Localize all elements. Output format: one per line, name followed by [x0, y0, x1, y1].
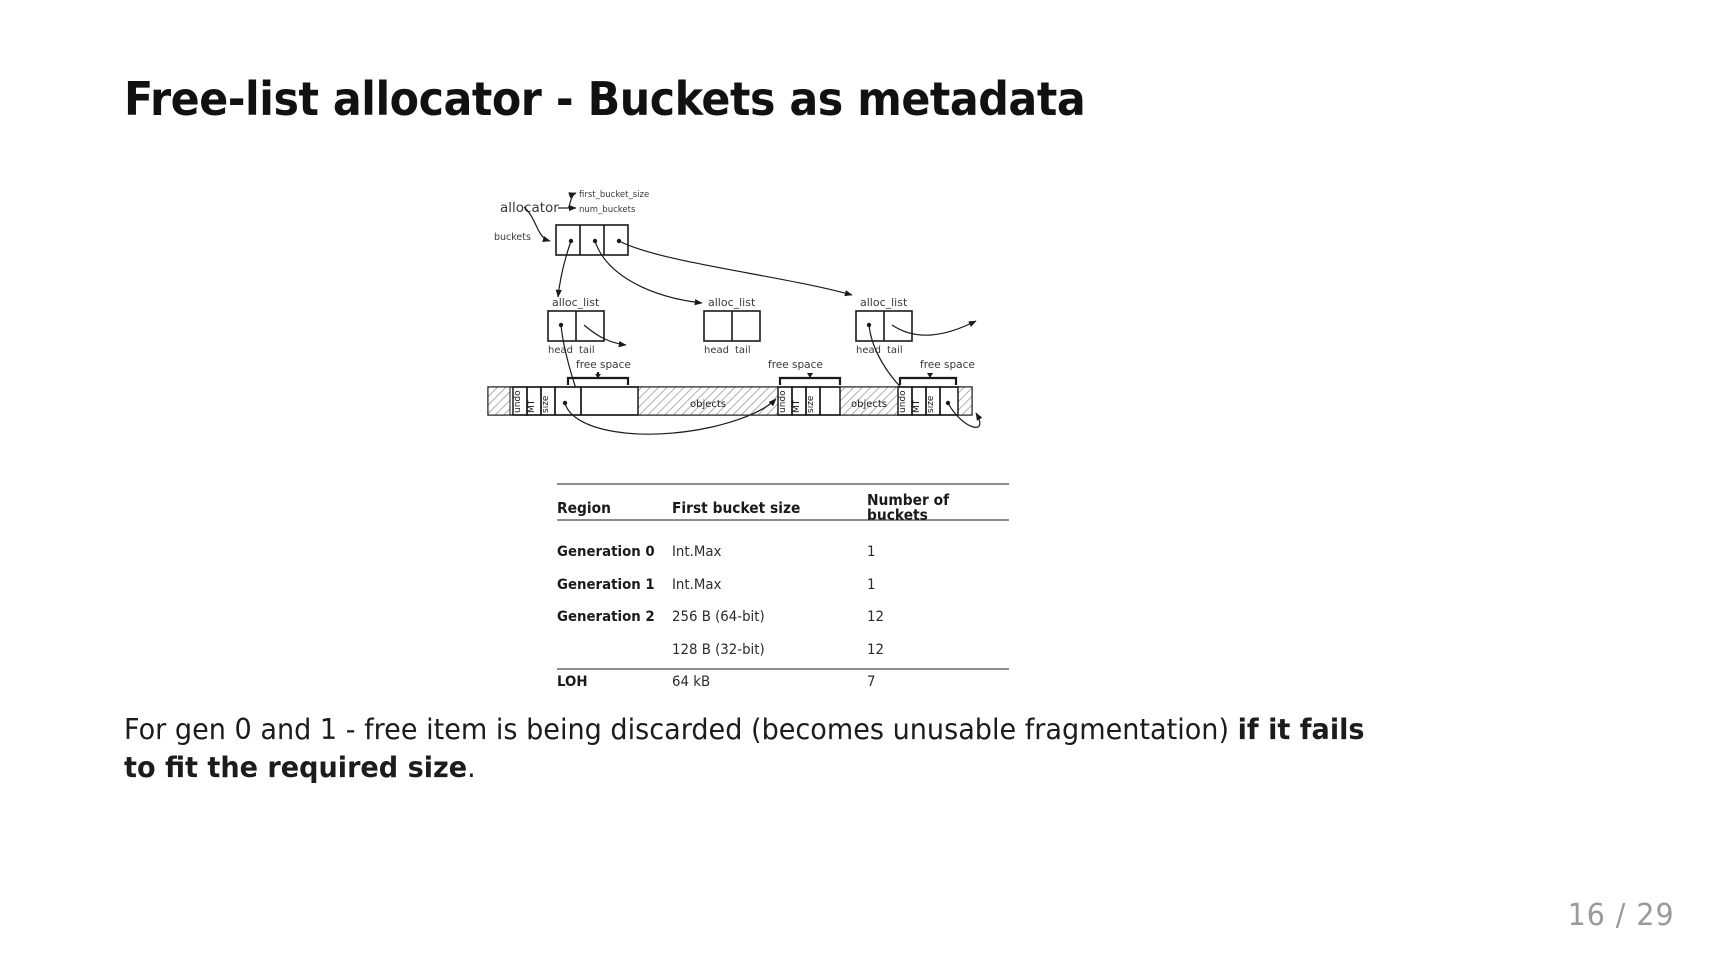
slide-root: Free-list allocator - Buckets as metadat… — [0, 0, 1721, 969]
label-size-2: size — [806, 395, 816, 413]
col-header-region: Region — [557, 483, 663, 536]
col-header-first-bucket-size: First bucket size — [672, 483, 851, 536]
hatched-left — [488, 387, 510, 415]
label-size-3: size — [926, 395, 936, 413]
label-alloc-list-3: alloc_list — [860, 296, 908, 309]
label-objects-2: objects — [851, 399, 887, 410]
cell-region: Generation 1 — [557, 569, 663, 602]
memory-strip: undo MT size undo MT size — [488, 387, 972, 415]
label-mt-3: MT — [912, 399, 922, 413]
label-tail-1: tail — [579, 345, 595, 356]
cell-num-buckets: 1 — [867, 569, 998, 602]
cell-num-buckets: 1 — [867, 536, 998, 569]
allocator-diagram-svg: allocator first_bucket_size num_buckets … — [480, 175, 1080, 445]
label-undo-3: undo — [898, 390, 908, 413]
label-head-2: head — [704, 345, 729, 356]
body-text-period: . — [467, 751, 476, 784]
label-free-space-3: free space — [920, 359, 975, 371]
label-tail-3: tail — [887, 345, 903, 356]
table-row: 128 B (32-bit) 12 — [557, 634, 1009, 667]
allocator-diagram: allocator first_bucket_size num_buckets … — [480, 175, 1080, 445]
label-num-buckets: num_buckets — [579, 205, 636, 215]
label-head-1: head — [548, 345, 573, 356]
cell-num-buckets: 12 — [867, 634, 998, 667]
cell-bucket-size: 64 kB — [672, 666, 851, 699]
label-undo-1: undo — [513, 390, 523, 413]
alloc-list-box-3 — [856, 311, 912, 341]
table-header-row: Region First bucket size Number of bucke… — [557, 483, 1009, 536]
label-alloc-list-2: alloc_list — [708, 296, 756, 309]
label-mt-1: MT — [527, 399, 537, 413]
cell-num-buckets: 7 — [867, 666, 998, 699]
cell-bucket-size: 128 B (32-bit) — [672, 634, 851, 667]
free-space-bracket-3 — [900, 378, 956, 385]
table-row: Generation 0 Int.Max 1 — [557, 536, 1009, 569]
cell-bucket-size: Int.Max — [672, 536, 851, 569]
label-tail-2: tail — [735, 345, 751, 356]
free-space-bracket-2 — [780, 378, 840, 385]
table-row: Generation 2 256 B (64-bit) 12 — [557, 601, 1009, 634]
cell-num-buckets: 12 — [867, 601, 998, 634]
alloc-list-box-2 — [704, 311, 760, 341]
cell-region: LOH — [557, 666, 663, 699]
alloc-list-box-1 — [548, 311, 604, 341]
label-mt-2: MT — [792, 399, 802, 413]
body-text-normal: For gen 0 and 1 - free item is being dis… — [124, 713, 1238, 746]
hatched-right — [958, 387, 972, 415]
col-header-number-of-buckets: Number of buckets — [867, 483, 998, 536]
table-row: LOH 64 kB 7 — [557, 666, 1009, 699]
cell-region: Generation 2 — [557, 601, 663, 634]
table-row: Generation 1 Int.Max 1 — [557, 569, 1009, 602]
bucket-config-table: Region First bucket size Number of bucke… — [557, 483, 1009, 699]
label-alloc-list-1: alloc_list — [552, 296, 600, 309]
page-number: 16 / 29 — [1568, 898, 1675, 933]
cell-region — [557, 634, 663, 667]
label-free-space-1: free space — [576, 359, 631, 371]
cell-bucket-size: Int.Max — [672, 569, 851, 602]
page-title: Free-list allocator - Buckets as metadat… — [124, 72, 1085, 126]
free-space-bracket-1 — [568, 372, 628, 385]
cell-bucket-size: 256 B (64-bit) — [672, 601, 851, 634]
label-free-space-2: free space — [768, 359, 823, 371]
label-size-1: size — [541, 395, 551, 413]
cell-region: Generation 0 — [557, 536, 663, 569]
label-first-bucket-size: first_bucket_size — [579, 190, 649, 200]
label-buckets: buckets — [494, 232, 531, 243]
body-paragraph: For gen 0 and 1 - free item is being dis… — [124, 711, 1378, 787]
label-objects-1: objects — [690, 399, 726, 410]
label-undo-2: undo — [778, 390, 788, 413]
